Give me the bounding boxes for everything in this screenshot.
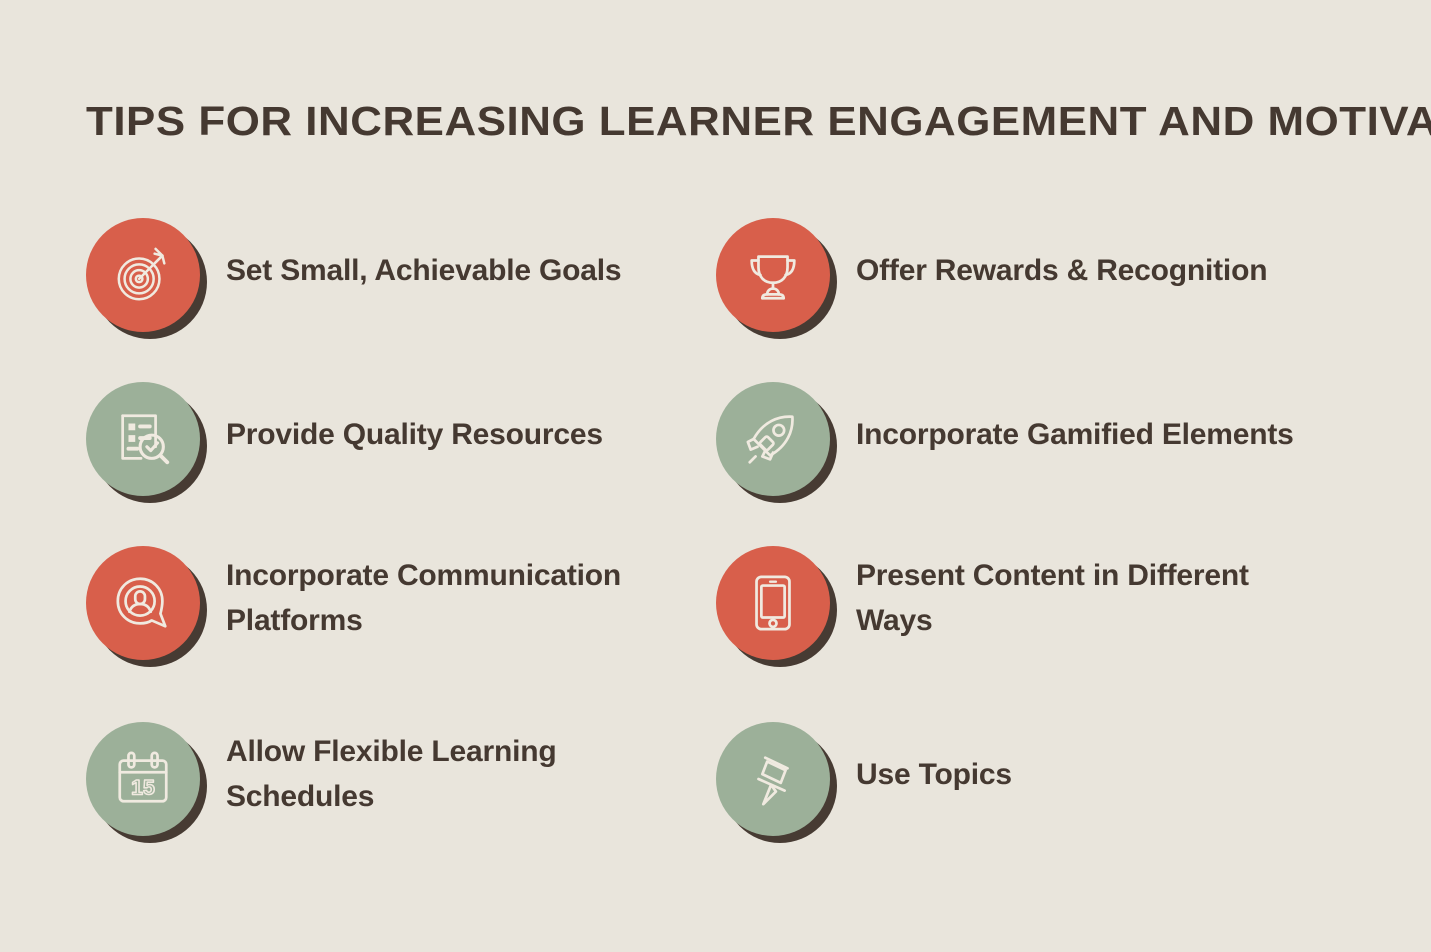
- tip-icon-badge: [716, 382, 830, 496]
- tip-icon-badge: [716, 546, 830, 660]
- smartphone-icon: [742, 572, 804, 634]
- badge-disc: [86, 218, 200, 332]
- tip-icon-badge: 15: [86, 722, 200, 836]
- target-arrow-icon: [112, 244, 174, 306]
- tip-item: Incorporate Gamified Elements: [716, 372, 1346, 536]
- pushpin-icon: [742, 748, 804, 810]
- tip-label: Allow Flexible Learning Schedules: [226, 712, 676, 819]
- badge-disc: 15: [86, 722, 200, 836]
- tip-icon-badge: [86, 546, 200, 660]
- tip-item: Use Topics: [716, 712, 1346, 888]
- badge-disc: [86, 546, 200, 660]
- tip-icon-badge: [716, 218, 830, 332]
- infographic-poster: TIPS FOR INCREASING LEARNER ENGAGEMENT A…: [0, 0, 1431, 952]
- tip-icon-badge: [86, 218, 200, 332]
- tip-label: Offer Rewards & Recognition: [856, 208, 1267, 293]
- tip-item: Present Content in Different Ways: [716, 536, 1346, 712]
- trophy-icon: [742, 244, 804, 306]
- badge-disc: [86, 382, 200, 496]
- tip-icon-badge: [86, 382, 200, 496]
- tip-label: Incorporate Gamified Elements: [856, 372, 1294, 457]
- tip-label: Present Content in Different Ways: [856, 536, 1306, 643]
- tip-item: Incorporate Communication Platforms: [86, 536, 716, 712]
- tips-grid: Set Small, Achievable Goals: [0, 208, 1431, 888]
- tip-label: Set Small, Achievable Goals: [226, 208, 621, 293]
- calendar-day-number: 15: [131, 776, 155, 800]
- rocket-icon: [742, 408, 804, 470]
- tip-item: Offer Rewards & Recognition: [716, 208, 1346, 372]
- badge-disc: [716, 218, 830, 332]
- badge-disc: [716, 382, 830, 496]
- tip-item: 15 Allow Flexible Learning Schedules: [86, 712, 716, 888]
- document-search-icon: [112, 408, 174, 470]
- tip-item: Provide Quality Resources: [86, 372, 716, 536]
- tip-icon-badge: [716, 722, 830, 836]
- tip-label: Incorporate Communication Platforms: [226, 536, 676, 643]
- tip-label: Provide Quality Resources: [226, 372, 603, 457]
- chat-person-icon: [112, 572, 174, 634]
- page-title: TIPS FOR INCREASING LEARNER ENGAGEMENT A…: [86, 96, 1431, 146]
- tip-item: Set Small, Achievable Goals: [86, 208, 716, 372]
- tip-label: Use Topics: [856, 712, 1012, 797]
- calendar-15-icon: 15: [112, 748, 174, 810]
- badge-disc: [716, 546, 830, 660]
- badge-disc: [716, 722, 830, 836]
